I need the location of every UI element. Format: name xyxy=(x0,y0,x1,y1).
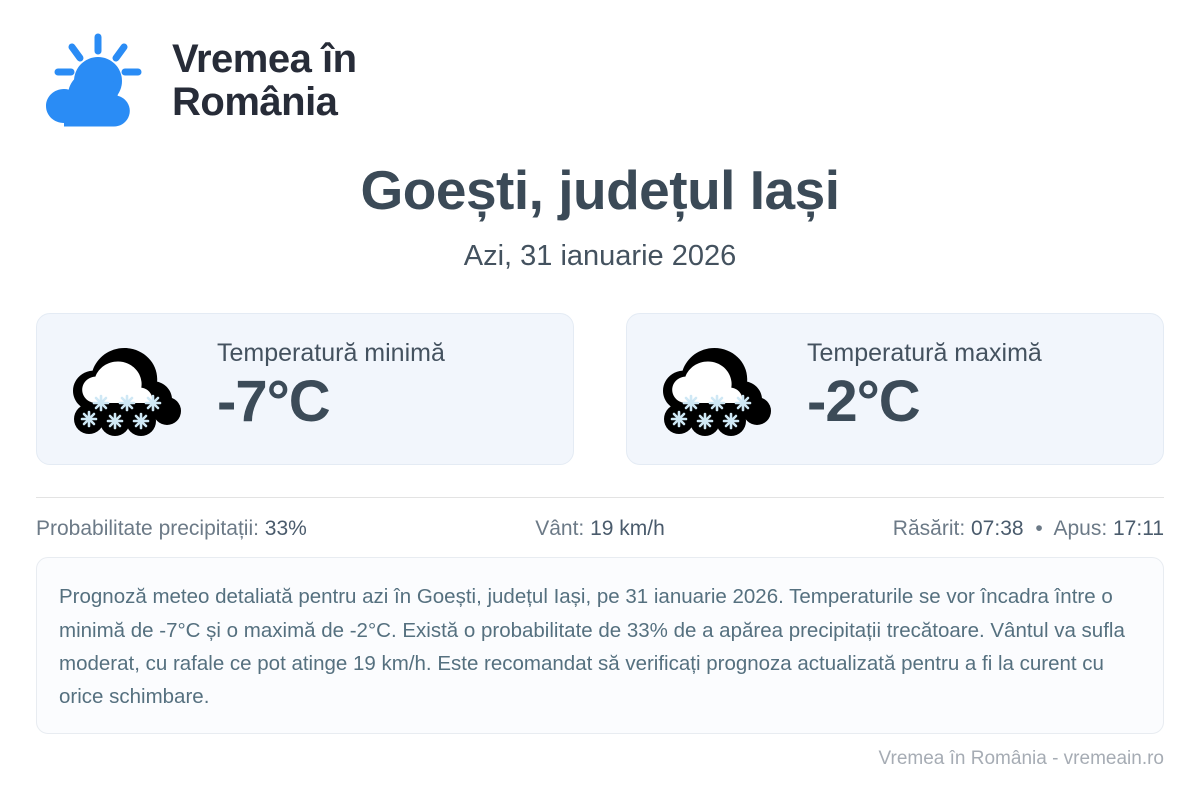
stats-row: Probabilitate precipitații: 33% Vânt: 19… xyxy=(36,516,1164,541)
wind-label: Vânt: xyxy=(535,517,584,540)
page-subtitle: Azi, 31 ianuarie 2026 xyxy=(36,239,1164,274)
precipitation-stat: Probabilitate precipitații: 33% xyxy=(36,516,412,541)
sun-behind-cloud-icon xyxy=(36,31,154,131)
weather-page: Vremea în România Goești, județul Iași A… xyxy=(0,0,1200,800)
max-temperature-value: -2°C xyxy=(807,369,1042,436)
site-header: Vremea în România xyxy=(36,0,1164,116)
wind-value: 19 km/h xyxy=(590,517,665,540)
min-temperature-card: Temperatură minimă -7°C xyxy=(36,313,574,465)
snow-cloud-icon xyxy=(63,333,195,445)
precipitation-value: 33% xyxy=(265,517,307,540)
min-temperature-label: Temperatură minimă xyxy=(217,339,445,368)
forecast-description: Prognoză meteo detaliată pentru azi în G… xyxy=(36,557,1164,734)
wind-stat: Vânt: 19 km/h xyxy=(412,516,788,541)
sunrise-value: 07:38 xyxy=(971,517,1024,540)
snow-cloud-icon xyxy=(653,333,785,445)
page-title: Goești, județul Iași xyxy=(36,160,1164,221)
temperature-cards: Temperatură minimă -7°C xyxy=(36,313,1164,465)
min-temperature-info: Temperatură minimă -7°C xyxy=(217,339,445,436)
max-temperature-card: Temperatură maximă -2°C xyxy=(626,313,1164,465)
footer-credit: Vremea în România - vremeain.ro xyxy=(879,748,1164,770)
bullet-separator-icon: • xyxy=(1029,517,1048,540)
brand-name: Vremea în România xyxy=(172,38,357,124)
max-temperature-info: Temperatură maximă -2°C xyxy=(807,339,1042,436)
sunset-label: Apus: xyxy=(1053,517,1107,540)
sun-times-stat: Răsărit: 07:38 • Apus: 17:11 xyxy=(788,516,1164,541)
min-temperature-value: -7°C xyxy=(217,369,445,436)
title-block: Goești, județul Iași Azi, 31 ianuarie 20… xyxy=(36,160,1164,273)
divider xyxy=(36,497,1164,498)
sunrise-label: Răsărit: xyxy=(893,517,965,540)
precipitation-label: Probabilitate precipitații: xyxy=(36,517,259,540)
sunset-value: 17:11 xyxy=(1113,517,1164,540)
max-temperature-label: Temperatură maximă xyxy=(807,339,1042,368)
